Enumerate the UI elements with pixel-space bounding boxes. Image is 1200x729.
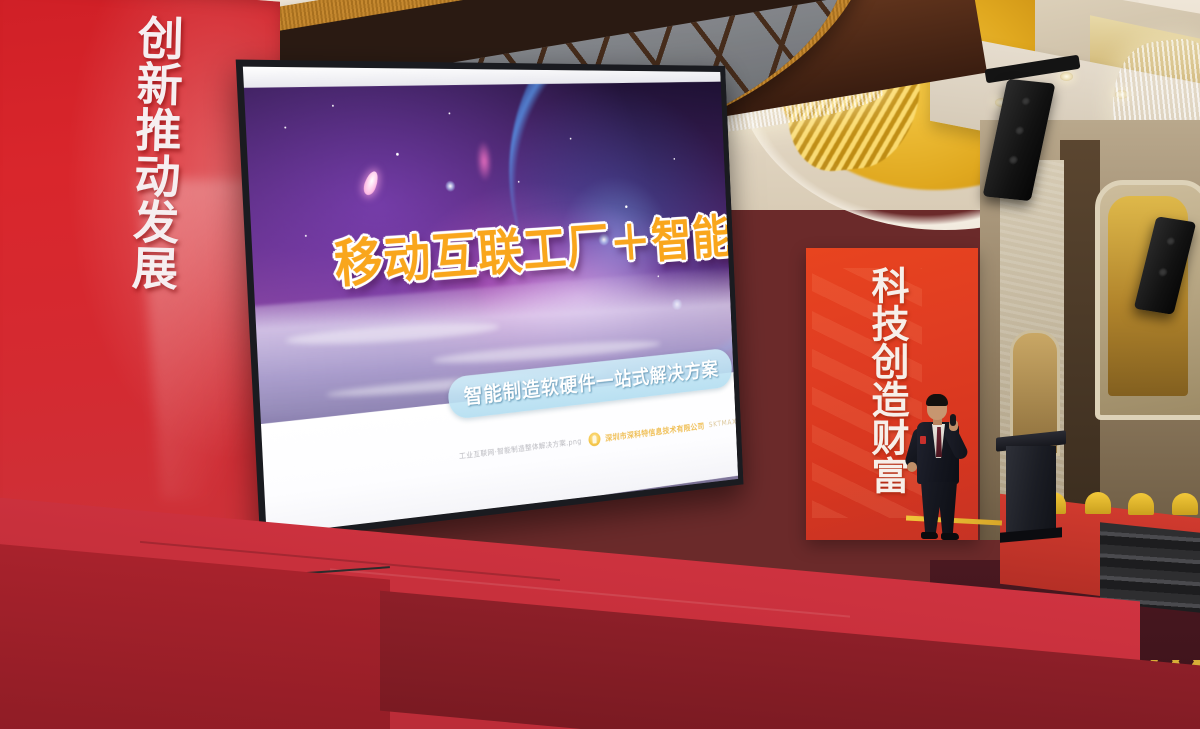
presenter-hand-left (907, 462, 917, 472)
backdrop-left-slogan: 创新推动发展 (112, 13, 181, 291)
lectern (1000, 434, 1062, 538)
presenter-hair (926, 394, 948, 406)
handheld-microphone-icon (950, 414, 956, 426)
presenter (905, 396, 975, 542)
banquet-chair (1085, 492, 1111, 514)
banquet-chair (1172, 493, 1198, 515)
presenter-shoe (941, 533, 959, 540)
presenter-legs (921, 482, 957, 536)
led-presentation-screen[interactable]: SKTMAX 移动互联工厂＋智能制造 智能制造软硬件一站式解决方案 工业互联网·… (236, 60, 744, 543)
presenter-lapel-badge (920, 436, 926, 444)
lens-flare (476, 140, 493, 181)
company-logo-icon (588, 432, 601, 447)
presenter-shoe (921, 532, 938, 539)
wall-dark-panel (1060, 140, 1100, 540)
downlight-icon (1060, 72, 1073, 81)
banquet-chair (1128, 493, 1154, 515)
lectern-body (1006, 446, 1056, 534)
slide-footer-badge: SKTMAX (708, 418, 737, 429)
conference-stage-photo: 创新推动发展 SKTMAX 移动互联工厂＋智能制造 智能制造软硬件一站式解决方案 (0, 0, 1200, 729)
banner-right-slogan: 科技创造财富 (860, 266, 906, 494)
